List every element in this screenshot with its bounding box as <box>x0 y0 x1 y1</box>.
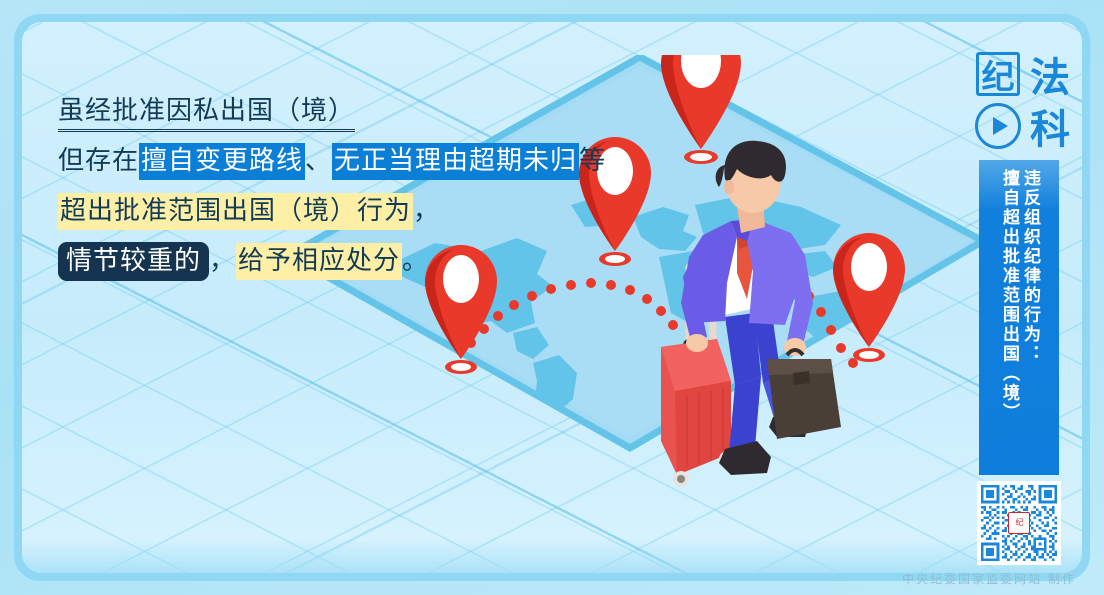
headline-segment-underlined: 虽经批准因私出国（境） <box>58 96 355 132</box>
logo-cell-ke: 科 <box>1024 100 1076 152</box>
headline-segment-highlight-blue-1: 擅自变更路线 <box>139 143 305 180</box>
vertical-title-banner: 违反组织纪律的行为： 擅自超出批准范围出国（境） <box>979 160 1059 475</box>
qr-seal-icon: 纪 <box>1008 512 1030 534</box>
map-pin-4 <box>833 233 905 362</box>
brand-logo: 纪 法 科 <box>972 48 1080 156</box>
headline-segment-punct-3: ， <box>209 246 236 276</box>
logo-char-fa: 法 <box>1030 45 1070 103</box>
headline-segment-highlight-yellow-1: 超出批准范围出国（境）行为 <box>58 193 413 230</box>
infographic-canvas: 虽经批准因私出国（境） 但存在擅自变更路线、无正当理由超期未归等 超出批准范围出… <box>0 0 1104 595</box>
headline-segment-plain: 但存在 <box>58 146 139 176</box>
headline-segment-plain-2: 等 <box>579 146 606 176</box>
headline-segment-punct-2: ， <box>413 196 440 226</box>
headline-text-block: 虽经批准因私出国（境） 但存在擅自变更路线、无正当理由超期未归等 超出批准范围出… <box>58 86 678 286</box>
headline-line-2: 但存在擅自变更路线、无正当理由超期未归等 <box>58 136 678 186</box>
logo-cell-ji: 纪 <box>972 48 1024 100</box>
headline-segment-punct: 、 <box>305 146 332 176</box>
logo-char-ji: 纪 <box>976 52 1020 96</box>
headline-segment-pill: 情节较重的 <box>58 242 209 281</box>
banner-column-right: 违反组织纪律的行为： <box>1020 169 1039 459</box>
qr-code[interactable]: 纪 <box>977 481 1061 565</box>
headline-segment-highlight-blue-2: 无正当理由超期未归 <box>332 143 579 180</box>
headline-line-1: 虽经批准因私出国（境） <box>58 86 678 136</box>
logo-cell-bai <box>972 100 1024 152</box>
logo-cell-fa: 法 <box>1024 48 1076 100</box>
logo-char-bai <box>975 103 1021 149</box>
qr-modules: 纪 <box>981 485 1057 561</box>
headline-line-4: 情节较重的，给予相应处分。 <box>58 236 678 286</box>
headline-segment-highlight-yellow-2: 给予相应处分 <box>236 243 402 280</box>
credit-line: 中央纪委国家监委网站 制作 <box>902 570 1076 587</box>
play-icon <box>993 117 1008 135</box>
banner-column-left: 擅自超出批准范围出国（境） <box>999 169 1018 459</box>
headline-line-3: 超出批准范围出国（境）行为， <box>58 186 678 236</box>
logo-char-ke: 科 <box>1030 97 1070 155</box>
headline-segment-punct-4: 。 <box>402 246 429 276</box>
